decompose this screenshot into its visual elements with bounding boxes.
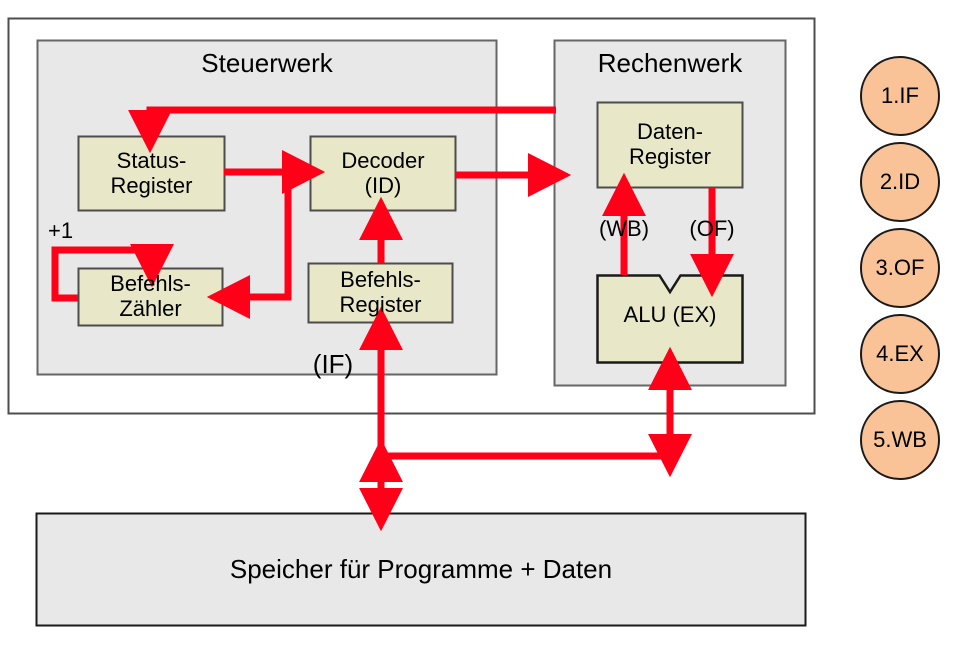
stage-circle-id (861, 143, 939, 221)
stage-circle-ex (861, 315, 939, 393)
memory-box (37, 514, 806, 626)
stage-circle-if (861, 57, 939, 135)
program-counter-box (79, 269, 223, 326)
instruction-register-box (309, 264, 453, 323)
decoder-box (311, 137, 456, 211)
status-register-box (79, 137, 225, 211)
diagram-canvas: Steuerwerk Rechenwerk Status- Register D… (0, 0, 959, 649)
stage-circle-of (861, 229, 939, 307)
diagram-graphics (0, 0, 959, 649)
data-register-box (598, 103, 743, 188)
stage-circle-wb (861, 401, 939, 479)
